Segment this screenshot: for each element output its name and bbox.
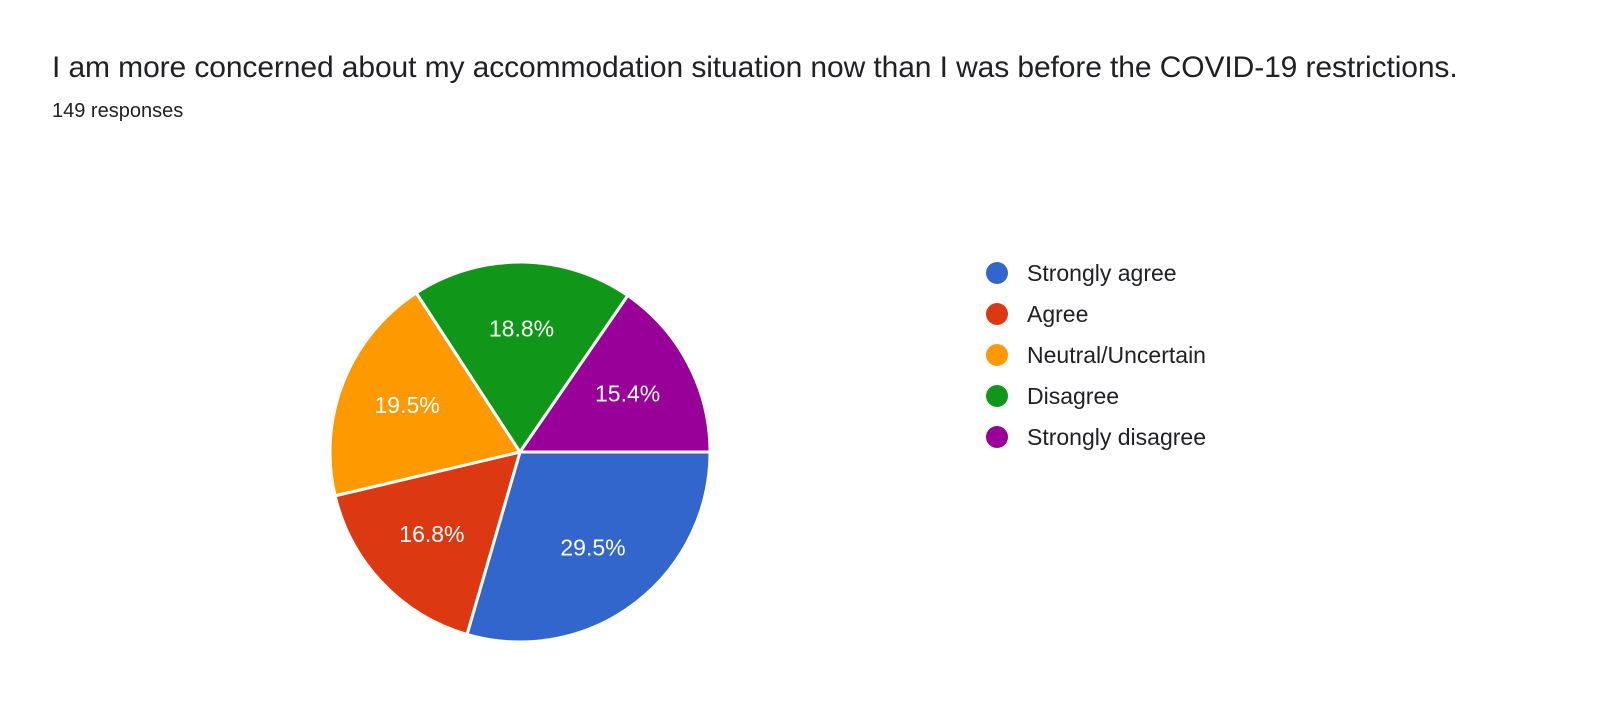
legend-swatch-icon xyxy=(986,262,1008,284)
pie-chart: 29.5%16.8%19.5%18.8%15.4% xyxy=(300,232,740,672)
legend-item[interactable]: Neutral/Uncertain xyxy=(986,334,1406,375)
legend-item-label: Disagree xyxy=(1027,383,1119,409)
legend-item[interactable]: Disagree xyxy=(986,375,1406,416)
legend-item-label: Strongly agree xyxy=(1027,260,1177,286)
pie-slice-label: 19.5% xyxy=(374,392,439,418)
legend-item-label: Neutral/Uncertain xyxy=(1027,342,1206,368)
legend-swatch-icon xyxy=(986,385,1008,407)
chart-legend: Strongly agreeAgreeNeutral/UncertainDisa… xyxy=(986,252,1406,457)
pie-slice-label: 18.8% xyxy=(489,315,554,341)
chart-card: I am more concerned about my accommodati… xyxy=(0,0,1600,726)
pie-slice-label: 15.4% xyxy=(595,380,660,406)
chart-header: I am more concerned about my accommodati… xyxy=(52,46,1522,125)
legend-swatch-icon xyxy=(986,344,1008,366)
legend-swatch-icon xyxy=(986,426,1008,448)
pie-chart-svg: 29.5%16.8%19.5%18.8%15.4% xyxy=(300,232,740,672)
pie-slice-label: 29.5% xyxy=(560,534,625,560)
legend-item[interactable]: Strongly agree xyxy=(986,252,1406,293)
legend-item[interactable]: Strongly disagree xyxy=(986,416,1406,457)
legend-item-label: Strongly disagree xyxy=(1027,424,1206,450)
legend-item-label: Agree xyxy=(1027,301,1088,327)
page-title: I am more concerned about my accommodati… xyxy=(52,46,1522,89)
pie-slice-label: 16.8% xyxy=(399,521,464,547)
legend-item[interactable]: Agree xyxy=(986,293,1406,334)
legend-swatch-icon xyxy=(986,303,1008,325)
response-count: 149 responses xyxy=(52,97,1522,125)
